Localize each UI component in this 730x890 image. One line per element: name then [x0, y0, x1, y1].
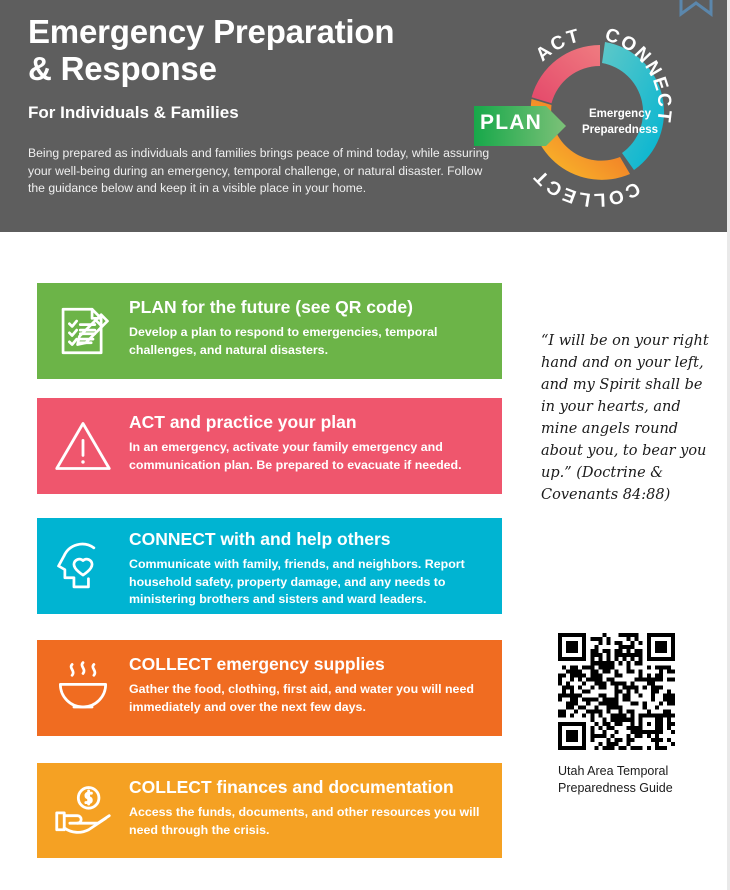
card-title: ACT and practice your plan [129, 412, 488, 432]
card-title: PLAN for the future (see QR code) [129, 297, 488, 317]
card-text: Access the funds, documents, and other r… [129, 804, 488, 839]
card-title: COLLECT emergency supplies [129, 654, 488, 674]
action-card-connect[interactable]: CONNECT with and help others Communicate… [37, 518, 502, 614]
cycle-plan-label: PLAN [480, 111, 542, 135]
card-title: COLLECT finances and documentation [129, 777, 488, 797]
head-heart-icon [37, 537, 129, 595]
action-card-collect-finances[interactable]: COLLECT finances and documentation Acces… [37, 763, 502, 858]
warning-triangle-icon [37, 416, 129, 476]
preparedness-cycle-diagram: ACT CONNECT COLLECT PLAN Emergency Prepa… [474, 18, 720, 214]
hand-dollar-icon [37, 781, 129, 841]
cycle-center-label: Emergency Preparedness [566, 107, 674, 138]
action-card-collect-supplies[interactable]: COLLECT emergency supplies Gather the fo… [37, 640, 502, 736]
action-card-act[interactable]: ACT and practice your plan In an emergen… [37, 398, 502, 494]
soup-bowl-icon [37, 659, 129, 717]
card-text: Communicate with family, friends, and ne… [129, 556, 488, 609]
header-banner: Emergency Preparation & Response For Ind… [0, 0, 727, 232]
card-text: Gather the food, clothing, first aid, an… [129, 681, 488, 716]
scripture-quote: “I will be on your right hand and on you… [541, 330, 717, 506]
card-title: CONNECT with and help others [129, 529, 488, 549]
card-text: Develop a plan to respond to emergencies… [129, 324, 488, 359]
clipboard-pencil-icon [37, 302, 129, 360]
page-subtitle: For Individuals & Families [28, 103, 239, 123]
document-page: Emergency Preparation & Response For Ind… [0, 0, 730, 890]
card-text: In an emergency, activate your family em… [129, 439, 488, 474]
qr-code-icon[interactable] [558, 633, 675, 750]
page-title: Emergency Preparation & Response [28, 14, 394, 88]
action-card-plan[interactable]: PLAN for the future (see QR code) Develo… [37, 283, 502, 379]
qr-code-caption: Utah Area Temporal Preparedness Guide [558, 763, 730, 797]
intro-paragraph: Being prepared as individuals and famili… [28, 145, 498, 198]
